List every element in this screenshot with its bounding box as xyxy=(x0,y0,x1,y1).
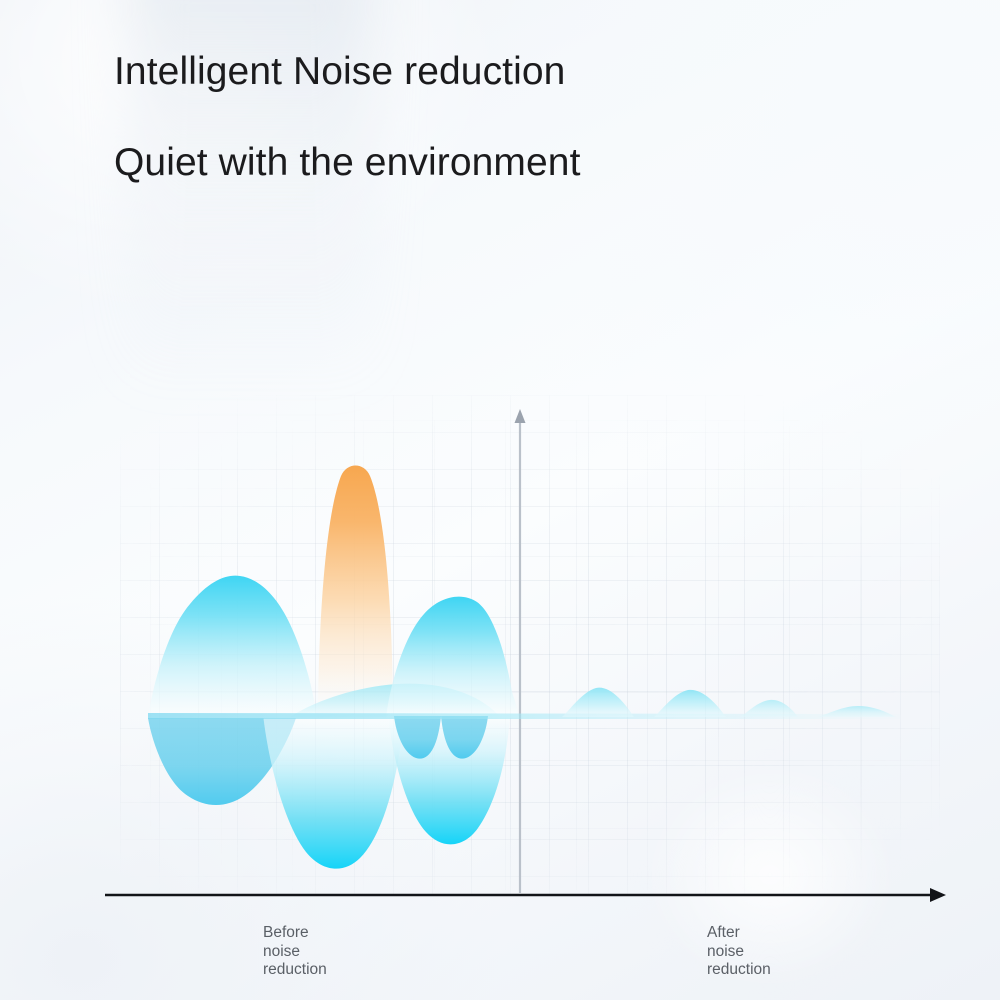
axis-label-after: After noise reduction xyxy=(707,924,771,980)
poster-canvas: Intelligent Noise reduction Quiet with t… xyxy=(0,0,1000,1000)
wave-bump-after-2 xyxy=(654,690,726,717)
wave-lobe-orange-peak xyxy=(318,466,393,723)
wave-bump-after-3 xyxy=(740,700,798,717)
wave-bump-after-4 xyxy=(818,706,896,717)
wave-lobe-center-down xyxy=(263,714,404,869)
wave-lobe-left-up xyxy=(148,576,317,718)
x-axis xyxy=(105,888,946,902)
y-axis xyxy=(515,409,526,893)
waveform-chart xyxy=(0,0,1000,1000)
wave-bump-after-1 xyxy=(562,688,634,717)
wave-lobe-right-up xyxy=(386,597,519,718)
axis-label-before: Before noise reduction xyxy=(263,924,327,980)
